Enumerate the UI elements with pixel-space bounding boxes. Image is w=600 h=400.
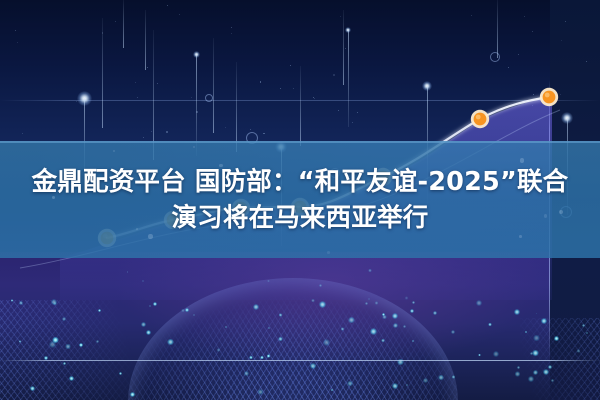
page-title: 金鼎配资平台 国防部：“和平友谊-2025”联合 演习将在马来西亚举行 [0, 141, 600, 258]
title-line-1: 金鼎配资平台 国防部：“和平友谊-2025”联合 [32, 167, 569, 197]
banner-image: 金鼎配资平台 国防部：“和平友谊-2025”联合 演习将在马来西亚举行 [0, 0, 600, 400]
title-line-2: 演习将在马来西亚举行 [171, 203, 428, 233]
